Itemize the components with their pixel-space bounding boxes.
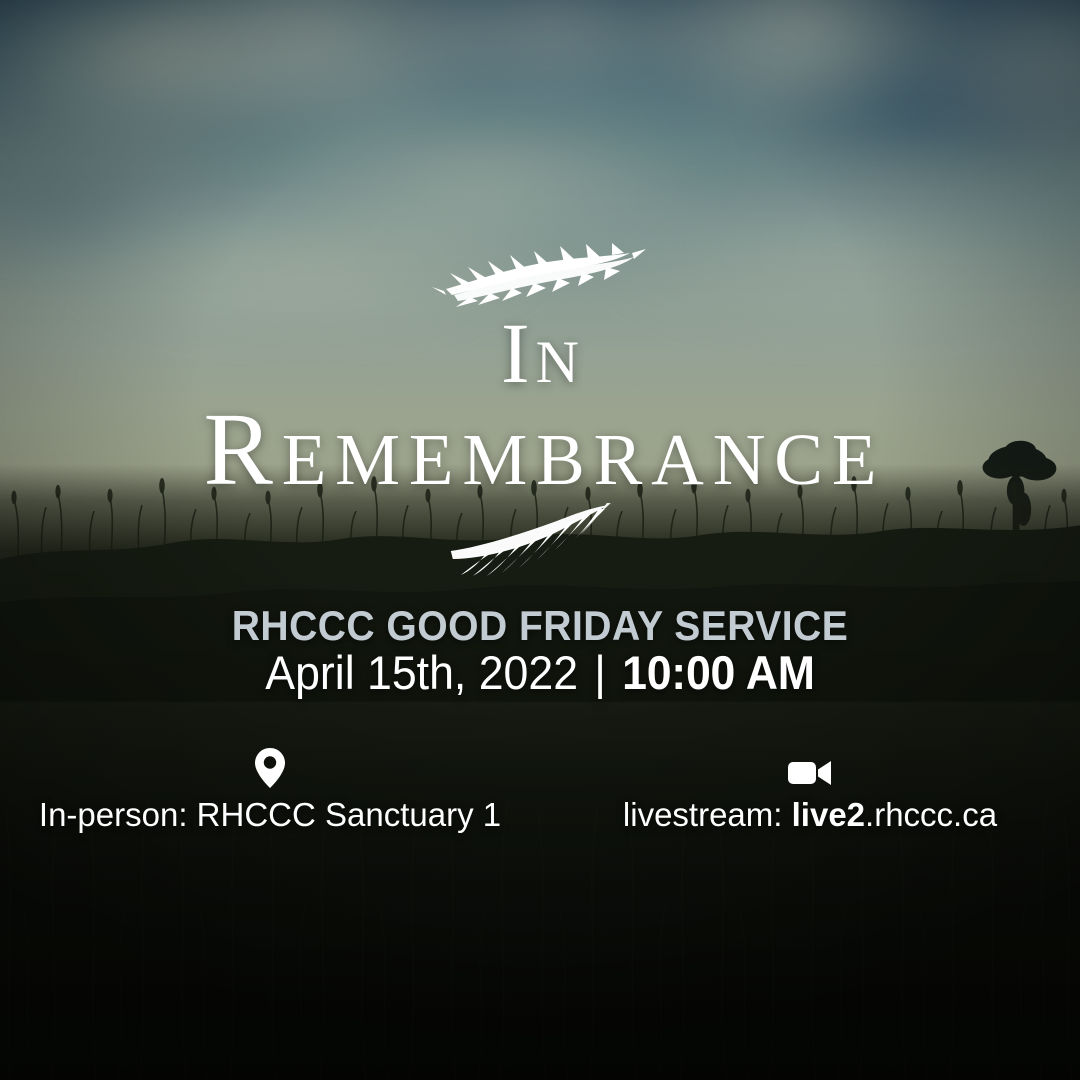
event-time-text: 10:00 AM: [622, 646, 815, 699]
channel-livestream-label[interactable]: livestream: live2.rhccc.ca: [623, 796, 997, 834]
channel-in-person: In-person: RHCCC Sanctuary 1: [0, 748, 540, 834]
title-line-in: In: [0, 312, 1080, 395]
video-camera-icon: [788, 748, 832, 788]
channel-livestream-prefix: livestream:: [623, 796, 792, 833]
poster-canvas: In Remembrance RHCCC: [0, 0, 1080, 1080]
channel-livestream-strong: live2: [792, 796, 865, 833]
location-pin-icon: [255, 748, 285, 788]
channel-livestream-suffix: .rhccc.ca: [865, 796, 997, 833]
palm-frond-icon: [449, 503, 639, 577]
event-date-text: April 15th, 2022: [265, 646, 578, 699]
channel-in-person-prefix: In-person:: [39, 796, 197, 833]
channel-in-person-suffix: RHCCC Sanctuary 1: [197, 796, 501, 833]
title-line-remembrance: Remembrance: [0, 397, 1080, 503]
channel-in-person-label: In-person: RHCCC Sanctuary 1: [39, 796, 501, 834]
attendance-channels: In-person: RHCCC Sanctuary 1 livestream:…: [0, 748, 1080, 834]
poster-content: In Remembrance RHCCC: [0, 0, 1080, 1080]
event-datetime: April 15th, 2022 | 10:00 AM: [27, 645, 1053, 700]
poster-title: In Remembrance: [0, 312, 1080, 503]
channel-livestream[interactable]: livestream: live2.rhccc.ca: [540, 748, 1080, 834]
event-name: RHCCC GOOD FRIDAY SERVICE: [38, 602, 1042, 650]
datetime-separator: |: [590, 646, 609, 699]
